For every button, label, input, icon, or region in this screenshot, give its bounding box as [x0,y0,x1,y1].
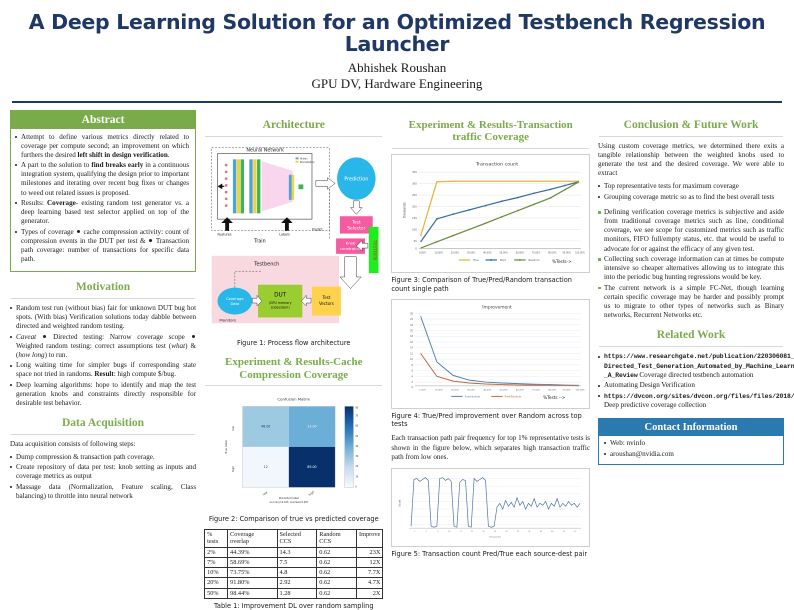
svg-text:49: 49 [552,531,554,533]
poster-columns: Abstract Attempt to define various metri… [10,110,784,610]
svg-text:350: 350 [413,170,418,174]
related-desc-2: Automating Design Verification [604,381,695,389]
svg-text:50.00%: 50.00% [500,390,508,392]
svg-text:50: 50 [414,239,418,243]
author-name: Abhishek Roushan [10,60,784,76]
table-row: 7% 58.69% 7.5 0.62 12X [205,557,383,567]
cell-pct-tests: 50% [205,588,228,598]
svg-text:1: 1 [415,531,416,533]
figure-4-box: Improvement 262422 201816 141210 [391,299,590,409]
data-acquisition-list: Dump compression & transaction path cove… [10,453,196,501]
col-header-random-ccs: Random CCS [317,530,357,547]
svg-text:Transaction count: Transaction count [475,161,518,167]
svg-text:80.00%: 80.00% [549,390,557,392]
col-header-coverage-overlap: Coverage overlap [228,530,277,547]
svg-text:90.00%: 90.00% [563,251,571,254]
section-divider [205,136,382,137]
list-item: Types of coverage cache compression acti… [15,228,189,264]
svg-text:Hidden: Hidden [300,158,308,160]
svg-text:DUT: DUT [274,292,287,298]
svg-text:90.00%: 90.00% [563,390,571,392]
svg-text:80.00%: 80.00% [549,251,557,254]
contact-list: Web: nvinfo aroushan@nvidia.com [604,439,778,459]
cell-improve: 2X [357,588,383,598]
svg-text:subsystem): subsystem) [271,305,290,309]
cell-coverage-overlap: 91.80% [228,578,277,588]
svg-text:20: 20 [355,465,358,468]
figure-4-caption: Figure 4: True/Pred improvement over Ran… [391,412,590,428]
svg-text:Confusion Matrix: Confusion Matrix [278,397,311,402]
svg-text:Transaction: Transaction [490,535,503,538]
list-item: Random test run (without bias) fair for … [10,304,196,331]
svg-text:40: 40 [355,445,358,448]
svg-text:%Tests->: %Tests-> [553,259,573,264]
traffic-section-heading: Experiment & Results-Transaction traffic… [391,119,590,144]
svg-text:Vectors: Vectors [319,301,334,306]
svg-text:53: 53 [563,531,565,533]
poster-root: A Deep Learning Solution for an Optimize… [0,0,794,596]
svg-text:50.00%: 50.00% [500,251,508,254]
list-item: Create repository of data per test: knob… [10,463,196,481]
page-title: A Deep Learning Solution for an Optimize… [10,12,784,55]
cell-coverage-overlap: 44.39% [228,547,277,557]
svg-text:250: 250 [413,193,418,197]
related-desc-3: Deep predictive coverage collection [604,401,706,409]
list-item: Automating Design Verification [598,381,784,390]
cell-selected-ccs: 7.5 [277,557,317,567]
list-item[interactable]: aroushan@nvidia.com [604,450,778,459]
cell-selected-ccs: 2.92 [277,578,317,588]
svg-text:20.00%: 20.00% [451,390,459,392]
list-item: Caveat Directed testing: Narrow coverage… [10,333,196,360]
cache-heading-line1: Experiment & Results-Cache [225,356,362,368]
figure-5-caption: Figure 5: Transaction count Pred/True ea… [391,550,590,558]
confusion-matrix-chart: Confusion Matrix 46.00 23.00 12 89.00 lo… [204,391,383,507]
svg-text:70.00%: 70.00% [532,251,540,254]
svg-text:40.00%: 40.00% [484,390,492,392]
column-three: Experiment & Results-Transaction traffic… [391,110,590,559]
svg-text:TESTGEN: TESTGEN [372,238,378,260]
cell-random-ccs: 0.62 [317,588,357,598]
bullet-dot-icon [192,335,195,338]
svg-text:True: True [474,258,480,262]
section-divider [11,298,195,299]
svg-text:89.00: 89.00 [307,465,316,469]
cell-pct-tests: 10% [205,568,228,578]
section-divider [599,136,783,137]
svg-text:9: 9 [438,531,439,533]
svg-text:60.00%: 60.00% [516,251,524,254]
list-item: Grouping coverage metric so as to find t… [598,193,784,202]
svg-text:33: 33 [506,531,508,533]
svg-text:10.00%: 10.00% [435,251,443,254]
cell-coverage-overlap: 58.69% [228,557,277,567]
bullet-dot-icon [43,335,46,338]
svg-text:30.00%: 30.00% [467,251,475,254]
svg-text:60.00%: 60.00% [516,390,524,392]
conclusion-bullets: Top representative tests for maximum cov… [598,182,784,202]
section-divider [392,148,589,149]
svg-text:Predict: Predict [312,227,323,231]
figure-3-caption: Figure 3: Comparison of True/Pred/Random… [391,276,590,292]
svg-text:Random: Random [529,258,540,262]
svg-text:300: 300 [413,181,418,185]
cell-selected-ccs: 1.28 [277,588,317,598]
svg-text:Monitors: Monitors [220,317,237,322]
col-header-improve: Improve [357,530,383,547]
cell-coverage-overlap: 73.75% [228,568,277,578]
svg-text:Selector: Selector [347,225,365,231]
svg-text:Prediction: Prediction [344,176,368,182]
cell-selected-ccs: 4.8 [277,568,317,578]
traffic-paragraph: Each transaction path pair frequency for… [391,434,590,461]
figure-5-box: Count 159 131721 252933 374145 495357 Tr… [391,468,590,548]
conclusion-intro: Using custom coverage metrics, we determ… [598,142,784,178]
list-item: Collecting such coverage information can… [598,255,784,282]
cell-random-ccs: 0.62 [317,557,357,567]
svg-text:150: 150 [413,216,418,220]
svg-text:True label: True label [224,440,228,455]
svg-text:60: 60 [355,425,358,428]
cell-improve: 12X [357,557,383,567]
cell-improve: 23X [357,547,383,557]
svg-text:high: high [231,466,235,472]
svg-text:Predicted label: Predicted label [279,496,299,500]
list-item: The current network is a simple FC-Net, … [598,284,784,320]
svg-text:Normalization: Normalization [300,161,315,164]
bullet-dot-icon [149,239,152,242]
list-item: Top representative tests for maximum cov… [598,182,784,191]
author-affiliation: GPU DV, Hardware Engineering [10,76,784,92]
svg-text:40.00%: 40.00% [484,251,492,254]
column-two: Architecture Testbench Neural Network [204,110,383,610]
list-item: https://dvcon.org/sites/dvcon.org/files/… [598,392,784,410]
svg-text:70: 70 [355,415,358,418]
svg-text:Test: Test [351,219,361,225]
svg-text:17: 17 [460,531,462,533]
svg-text:13: 13 [449,531,451,533]
figure-3-box: Transaction count thousands 050 [391,154,590,274]
svg-text:1.00%: 1.00% [420,390,427,392]
svg-text:accuracy=0.913; misclass=0.087: accuracy=0.913; misclass=0.087 [270,501,309,504]
process-flow-diagram: Testbench Neural Network [204,142,383,331]
col-header-pct-tests: % tests [205,530,228,547]
svg-text:Train: Train [253,238,266,244]
svg-text:Knob: Knob [346,240,356,245]
architecture-heading: Architecture [204,119,383,132]
cache-heading-line2: Compression Coverage [239,369,348,381]
motivation-heading: Motivation [10,281,196,294]
data-acquisition-intro: Data acquisition consists of following s… [10,440,196,449]
svg-text:Count: Count [398,499,402,506]
svg-text:21: 21 [471,531,473,533]
svg-text:Coverage: Coverage [226,297,244,301]
improvement-chart: Improvement 262422 201816 141210 [392,300,589,403]
svg-text:100: 100 [413,227,418,231]
figure-2-caption: Figure 2: Comparison of true vs predicte… [204,515,383,523]
svg-text:30: 30 [355,455,358,458]
poster-header: A Deep Learning Solution for an Optimize… [10,6,784,93]
column-right: Conclusion & Future Work Using custom co… [598,110,784,466]
conclusion-heading: Conclusion & Future Work [598,119,784,132]
list-item: Dump compression & transaction path cove… [10,453,196,462]
svg-text:80: 80 [355,407,358,410]
list-item: A part to the solution to find breaks ea… [15,161,189,197]
traffic-heading-line1: Experiment & Results-Transaction [409,119,573,131]
table-1-caption: Table 1: Improvement DL over random samp… [204,602,383,610]
cache-section-heading: Experiment & Results-Cache Compression C… [204,356,383,381]
list-item: Deep learning algorithms: hope to identi… [10,381,196,408]
svg-text:30.00%: 30.00% [468,390,476,392]
list-item: https://www.researchgate.net/publication… [598,352,784,380]
svg-text:25: 25 [483,531,485,533]
svg-text:20.00%: 20.00% [451,251,459,254]
svg-text:57: 57 [575,531,577,533]
architecture-figure: Testbench Neural Network [204,142,383,347]
source-dest-chart: Count 159 131721 252933 374145 495357 Tr… [392,469,589,542]
list-item: Web: nvinfo [604,439,778,448]
section-divider [11,434,195,435]
related-work-list: https://www.researchgate.net/publication… [598,352,784,410]
table-row: 50% 98.44% 1.28 0.62 2X [205,588,383,598]
list-item: Attempt to define various metrics direct… [15,133,189,160]
svg-text:Improvement: Improvement [483,304,513,310]
svg-text:100.00%: 100.00% [576,251,586,254]
traffic-heading-line2: traffic Coverage [452,131,529,143]
svg-text:Testbench: Testbench [253,261,279,267]
list-item: Massage data (Normalization, Feature sca… [10,483,196,501]
svg-text:Neural Network: Neural Network [247,147,285,153]
svg-text:thousands: thousands [403,202,407,218]
cell-random-ccs: 0.62 [317,578,357,588]
table-header-row: % tests Coverage overlap Selected CCS Ra… [205,530,383,547]
svg-text:True/random: True/random [465,394,481,398]
svg-text:70.00%: 70.00% [533,390,541,392]
list-item: Results: Coverage- existing random test … [15,199,189,226]
svg-text:10.00%: 10.00% [435,390,443,392]
column-left: Abstract Attempt to define various metri… [10,110,196,503]
table-row: 10% 73.75% 4.8 0.62 7.7X [205,568,383,578]
abstract-box: Abstract Attempt to define various metri… [10,110,196,272]
cell-random-ccs: 0.62 [317,547,357,557]
svg-text:23.00: 23.00 [307,425,316,429]
data-acquisition-heading: Data Acquisition [10,417,196,430]
motivation-list: Random test run (without bias) fair for … [10,304,196,408]
table-row: 20% 91.80% 2.92 0.62 4.7X [205,578,383,588]
transaction-count-chart: Transaction count thousands 050 [392,155,589,268]
contact-box: Contact Information Web: nvinfo aroushan… [598,418,784,465]
svg-text:10: 10 [355,476,358,479]
related-desc-1: Coverage directed testbench automation [639,371,753,379]
svg-text:Features: Features [218,232,232,236]
improvement-table: % tests Coverage overlap Selected CCS Ra… [204,529,383,599]
svg-text:low: low [231,426,235,432]
cell-coverage-overlap: 98.44% [228,588,277,598]
cell-selected-ccs: 14.3 [277,547,317,557]
cell-pct-tests: 20% [205,578,228,588]
list-item: Defining verification coverage metrics i… [598,208,784,253]
contact-heading: Contact Information [599,419,783,436]
figure-1-caption: Figure 1: Process flow architecture [204,339,383,347]
svg-text:41: 41 [529,531,531,533]
svg-text:29: 29 [494,531,496,533]
col-header-selected-ccs: Selected CCS [277,530,317,547]
svg-text:%Tests -->: %Tests --> [544,395,567,400]
cell-improve: 4.7X [357,578,383,588]
section-divider [599,346,783,347]
svg-text:Labels: Labels [279,232,290,236]
svg-text:Test: Test [322,295,331,300]
confusion-matrix-figure: Confusion Matrix 46.00 23.00 12 89.00 lo… [204,391,383,523]
cell-improve: 7.7X [357,568,383,578]
svg-text:Data: Data [231,302,240,306]
abstract-list: Attempt to define various metrics direct… [15,133,189,265]
svg-text:Pred: Pred [500,258,506,262]
svg-text:100.00%: 100.00% [576,390,585,392]
related-link-3[interactable]: https://dvcon.org/sites/dvcon.org/files/… [604,393,794,400]
svg-text:Pred/Random: Pred/Random [505,394,522,398]
svg-text:5: 5 [426,531,427,533]
cell-random-ccs: 0.62 [317,568,357,578]
svg-text:46.00: 46.00 [261,425,270,429]
svg-text:50: 50 [355,435,358,438]
table-row: 2% 44.39% 14.3 0.62 23X [205,547,383,557]
svg-text:200: 200 [413,204,418,208]
cell-pct-tests: 2% [205,547,228,557]
header-divider [12,101,782,103]
section-divider [205,385,382,386]
svg-text:45: 45 [540,531,542,533]
cell-pct-tests: 7% [205,557,228,567]
bullet-dot-icon [77,230,80,233]
svg-text:37: 37 [517,531,519,533]
svg-text:0.00%: 0.00% [419,251,426,254]
related-work-heading: Related Work [598,329,784,342]
abstract-heading: Abstract [11,111,195,129]
svg-text:12: 12 [264,465,268,469]
conclusion-green-bullets: Defining verification coverage metrics i… [598,208,784,320]
list-item: Long waiting time for simpler bugs if co… [10,361,196,379]
